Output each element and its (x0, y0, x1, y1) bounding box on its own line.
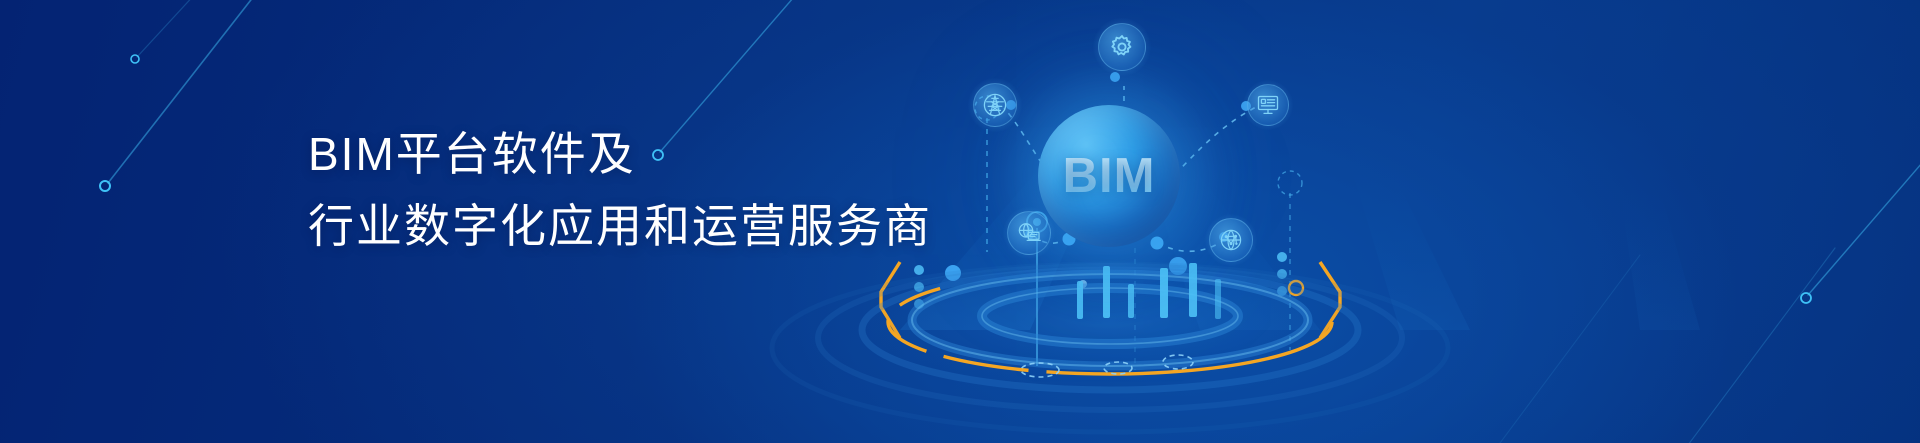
network-icon (1205, 214, 1257, 266)
bim-hero-banner: BIM平台软件及 行业数字化应用和运营服务商 BIM (0, 0, 1920, 443)
bim-sphere: BIM (1038, 105, 1180, 247)
tower-glyph (980, 90, 1010, 120)
power-tower-icon (968, 78, 1022, 132)
background-decor-layer (0, 0, 1920, 443)
sphere-label: BIM (1038, 105, 1180, 247)
gear-icon (1093, 18, 1151, 76)
headline-line-2: 行业数字化应用和运营服务商 (308, 190, 932, 262)
network-glyph (1217, 226, 1245, 254)
gear-glyph (1108, 33, 1136, 61)
headline-block: BIM平台软件及 行业数字化应用和运营服务商 (308, 118, 932, 262)
monitor-glyph (1255, 92, 1281, 118)
globe-laptop-icon (1003, 207, 1055, 259)
globe-laptop-glyph (1015, 219, 1043, 247)
headline-line-1: BIM平台软件及 (308, 118, 932, 190)
monitor-icon (1243, 80, 1293, 130)
